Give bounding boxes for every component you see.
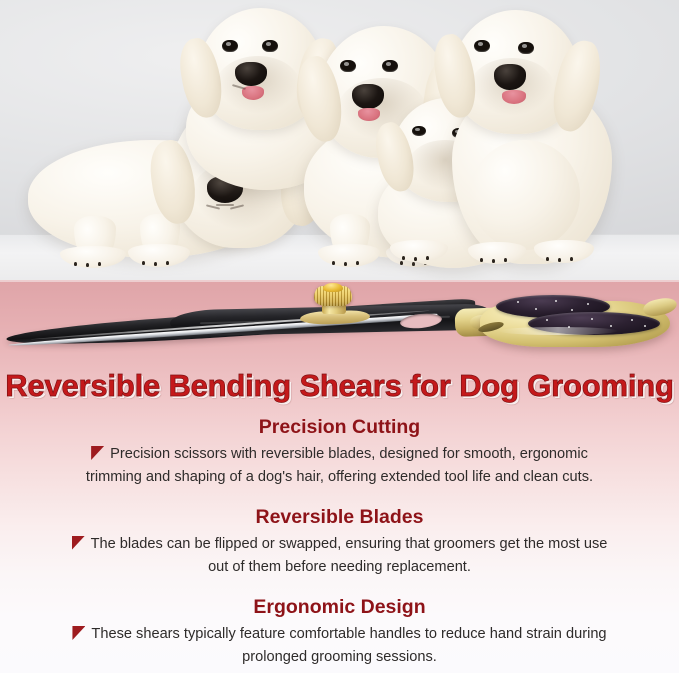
feature-section-precision-cutting: Precision Cutting Precision scissors wit… [0, 416, 679, 488]
triangle-bullet-icon [72, 626, 85, 640]
feature-section-ergonomic-design: Ergonomic Design These shears typically … [0, 596, 679, 668]
section-heading: Precision Cutting [0, 416, 679, 439]
section-body: The blades can be flipped or swapped, en… [0, 533, 679, 578]
section-body: These shears typically feature comfortab… [0, 623, 679, 668]
panel-top-highlight [0, 280, 679, 282]
triangle-bullet-icon [72, 536, 85, 550]
section-heading: Reversible Blades [0, 506, 679, 529]
golden-retriever-puppies-photo [0, 0, 679, 280]
section-body: Precision scissors with reversible blade… [0, 443, 679, 488]
triangle-bullet-icon [91, 446, 104, 460]
puppy-eye [518, 42, 534, 54]
product-feature-infographic: Reversible Bending Shears for Dog Groomi… [0, 0, 679, 673]
puppy-eye [474, 40, 490, 52]
shear-handle-gloss [498, 327, 618, 335]
puppy-eye [222, 40, 238, 52]
puppy-eye [262, 40, 278, 52]
shear-finger-tang [642, 296, 679, 319]
section-body-text: These shears typically feature comfortab… [91, 626, 606, 665]
puppy-eye [382, 60, 398, 72]
puppy-eye [412, 126, 426, 136]
feature-section-reversible-blades: Reversible Blades The blades can be flip… [0, 506, 679, 578]
puppy-eye [340, 60, 356, 72]
section-body-text: Precision scissors with reversible blade… [86, 446, 593, 485]
tension-screw-cap [323, 283, 343, 292]
section-heading: Ergonomic Design [0, 596, 679, 619]
section-body-text: The blades can be flipped or swapped, en… [91, 536, 608, 575]
page-title: Reversible Bending Shears for Dog Groomi… [0, 368, 679, 404]
reversible-bending-shears-photo [0, 283, 679, 361]
